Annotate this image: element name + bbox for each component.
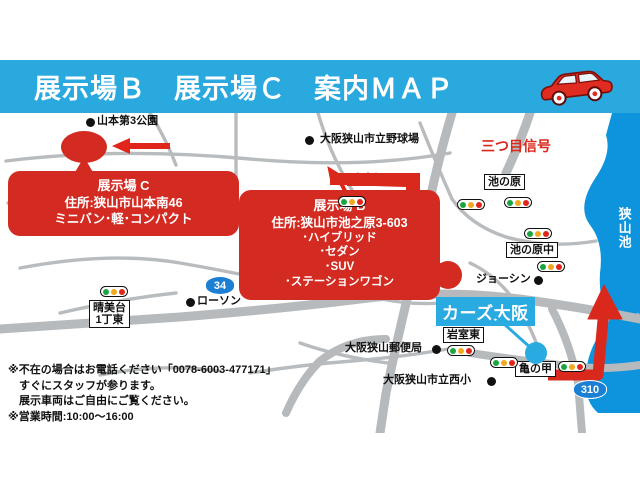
map-label-lawson: ローソン xyxy=(197,296,241,308)
showroom-b-item-0: ･ハイブリッド xyxy=(245,231,434,246)
annotation-third-signal: 三つ目信号 xyxy=(481,136,551,156)
map-label-joshin: ジョーシン xyxy=(476,274,531,286)
red-car-icon xyxy=(534,66,618,110)
showroom-b-item-3: ･ステーションワゴン xyxy=(245,275,434,290)
yamamoto-park-dot xyxy=(86,118,95,127)
route-shield-310: 310 xyxy=(573,380,607,399)
map-poster: 展示場Ｂ 展示場Ｃ 案内ＭＡＰ xyxy=(0,0,640,480)
lawson-dot xyxy=(186,298,195,307)
footer-note-line3: 展示車両はご自由にご覧ください。 xyxy=(8,394,308,410)
map-label-baseball-stadium: 大阪狭山市立野球場 xyxy=(320,134,419,146)
intersection-ikenohara: 池の原 xyxy=(484,174,525,190)
traffic-signal-post-office xyxy=(447,345,475,356)
showroom-b-callout[interactable]: 展示場 B 住所:狭山市池之原3-603 ･ハイブリッド ･セダン ･SUV ･… xyxy=(239,190,440,300)
footer-note-line4: ※営業時間:10:00～16:00 xyxy=(8,410,308,426)
poster-header: 展示場Ｂ 展示場Ｃ 案内ＭＡＰ xyxy=(0,60,640,113)
page-title: 展示場Ｂ 展示場Ｃ 案内ＭＡＰ xyxy=(34,67,454,106)
joshin-dot xyxy=(534,276,543,285)
footer-note: ※不在の場合はお電話ください「0078-6003-477171」 すぐにスタッフ… xyxy=(8,363,308,425)
map-label-sayama-pond: 狭山池 xyxy=(617,207,631,249)
showroom-b-address: 住所:狭山市池之原3-603 xyxy=(245,215,434,231)
intersection-harumidai-line1: 晴美台 xyxy=(93,302,126,314)
traffic-signal-ikenohara-naka xyxy=(524,228,552,239)
map-label-nishi-elementary: 大阪狭山市立西小 xyxy=(383,375,471,387)
traffic-signal-ikenohara-naka-south xyxy=(537,261,565,272)
map-label-yamamoto-park: 山本第3公園 xyxy=(97,116,158,128)
showroom-c-address: 住所:狭山市山本南46 xyxy=(14,195,233,211)
showroom-c-callout[interactable]: 展示場 C 住所:狭山市山本南46 ミニバン･軽･コンパクト xyxy=(8,171,239,236)
showroom-b-item-2: ･SUV xyxy=(245,260,434,275)
intersection-iwamuro-higashi: 岩室東 xyxy=(443,327,484,343)
intersection-harumidai-line2: 1丁東 xyxy=(93,314,126,326)
map-label-post-office: 大阪狭山郵便局 xyxy=(345,343,422,355)
showroom-b-item-1: ･セダン xyxy=(245,245,434,260)
footer-note-line2: すぐにスタッフが参ります。 xyxy=(8,379,308,395)
traffic-signal-ikenohara xyxy=(504,197,532,208)
traffic-signal-harumidai xyxy=(100,286,128,297)
nishi-elementary-dot xyxy=(487,377,496,386)
traffic-signal-b-front xyxy=(338,196,366,207)
traffic-signal-west-of-ikenohara xyxy=(457,199,485,210)
showroom-b-marker-stem xyxy=(420,263,446,283)
footer-note-line1: ※不在の場合はお電話ください「0078-6003-477171」 xyxy=(8,363,308,379)
intersection-ikenohara-naka: 池の原中 xyxy=(506,242,558,258)
baseball-stadium-dot xyxy=(305,136,314,145)
intersection-harumidai: 晴美台 1丁東 xyxy=(89,300,130,328)
post-office-dot xyxy=(432,345,441,354)
annotation-turn-right: 右折 xyxy=(352,169,378,188)
route-shield-34: 34 xyxy=(205,276,235,295)
route-arrow-west xyxy=(112,138,170,154)
showroom-c-categories: ミニバン･軽･コンパクト xyxy=(14,211,233,227)
showroom-c-title: 展示場 C xyxy=(14,178,233,195)
destination-leader-line xyxy=(490,309,580,369)
